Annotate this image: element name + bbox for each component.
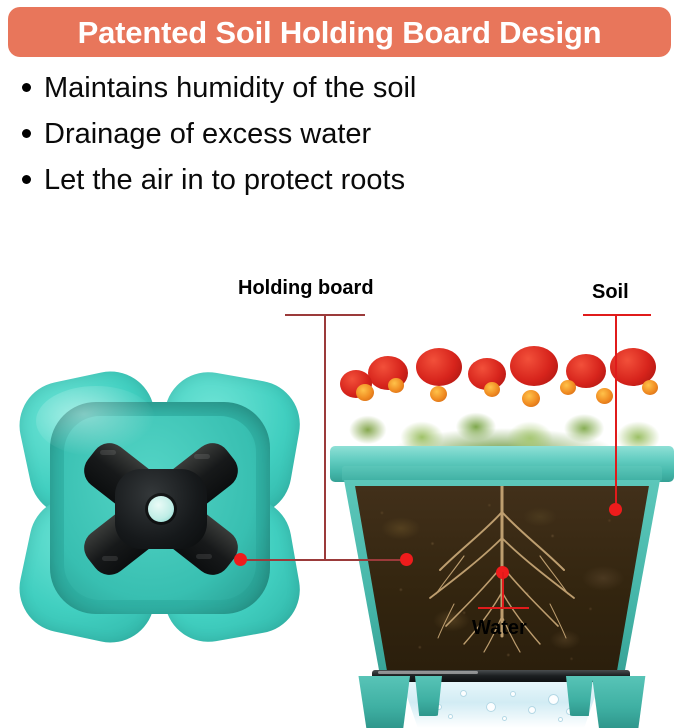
- water-bubble: [558, 717, 563, 722]
- callout-label-holding-board: Holding board: [238, 278, 374, 298]
- flower-cluster: [334, 340, 672, 452]
- bullet-dot-icon: [22, 175, 31, 184]
- holding-board-topview: [72, 424, 250, 594]
- planter-leg: [592, 676, 650, 728]
- list-item: Let the air in to protect roots: [22, 166, 622, 212]
- water-bubble: [486, 702, 496, 712]
- orange-bloom: [642, 380, 658, 395]
- cross-section-planter: [330, 340, 674, 600]
- water-bubble: [460, 690, 467, 697]
- orange-bloom: [484, 382, 500, 397]
- callout-line-soil-bar: [583, 314, 651, 316]
- feature-text: Maintains humidity of the soil: [44, 74, 416, 103]
- callout-line-holding-board-stem: [324, 314, 326, 560]
- callout-marker-holding-board-right: [400, 553, 413, 566]
- feature-list: Maintains humidity of the soil Drainage …: [22, 74, 622, 212]
- orange-bloom: [430, 386, 447, 402]
- orange-bloom: [560, 380, 576, 395]
- page-title: Patented Soil Holding Board Design: [78, 17, 602, 48]
- callout-label-soil: Soil: [592, 282, 629, 302]
- orange-bloom: [522, 390, 540, 407]
- water-bubble: [548, 694, 559, 705]
- bullet-dot-icon: [22, 129, 31, 138]
- orange-bloom: [356, 384, 374, 401]
- callout-marker-holding-board-left: [234, 553, 247, 566]
- drainage-hole: [148, 496, 174, 522]
- water-bubble: [528, 706, 536, 714]
- feature-text: Drainage of excess water: [44, 120, 371, 149]
- water-bubble: [448, 714, 453, 719]
- holding-board-vent: [100, 450, 116, 455]
- list-item: Drainage of excess water: [22, 120, 622, 166]
- callout-marker-soil: [609, 503, 622, 516]
- callout-line-water-stem: [502, 572, 504, 608]
- water-bubble: [510, 691, 516, 697]
- callout-label-water: Water: [472, 618, 527, 638]
- list-item: Maintains humidity of the soil: [22, 74, 622, 120]
- bullet-dot-icon: [22, 83, 31, 92]
- water-bubble: [502, 716, 507, 721]
- red-bloom: [510, 346, 558, 386]
- planter-leg: [354, 676, 410, 728]
- holding-board-vent: [102, 556, 118, 561]
- top-view-planter: [14, 368, 306, 646]
- orange-bloom: [388, 378, 404, 393]
- holding-board-vent: [196, 554, 212, 559]
- callout-line-holding-board-run: [242, 559, 410, 561]
- holding-board-vent: [194, 454, 210, 459]
- product-diagram: Holding board Soil Water: [0, 220, 679, 646]
- planter-rim-lip: [342, 466, 662, 482]
- orange-bloom: [596, 388, 613, 404]
- header-banner: Patented Soil Holding Board Design: [8, 7, 671, 57]
- callout-line-soil-stem: [615, 314, 617, 510]
- holding-board-highlight: [378, 671, 478, 674]
- callout-line-water-bar: [478, 607, 529, 609]
- red-bloom: [416, 348, 462, 386]
- feature-text: Let the air in to protect roots: [44, 166, 405, 195]
